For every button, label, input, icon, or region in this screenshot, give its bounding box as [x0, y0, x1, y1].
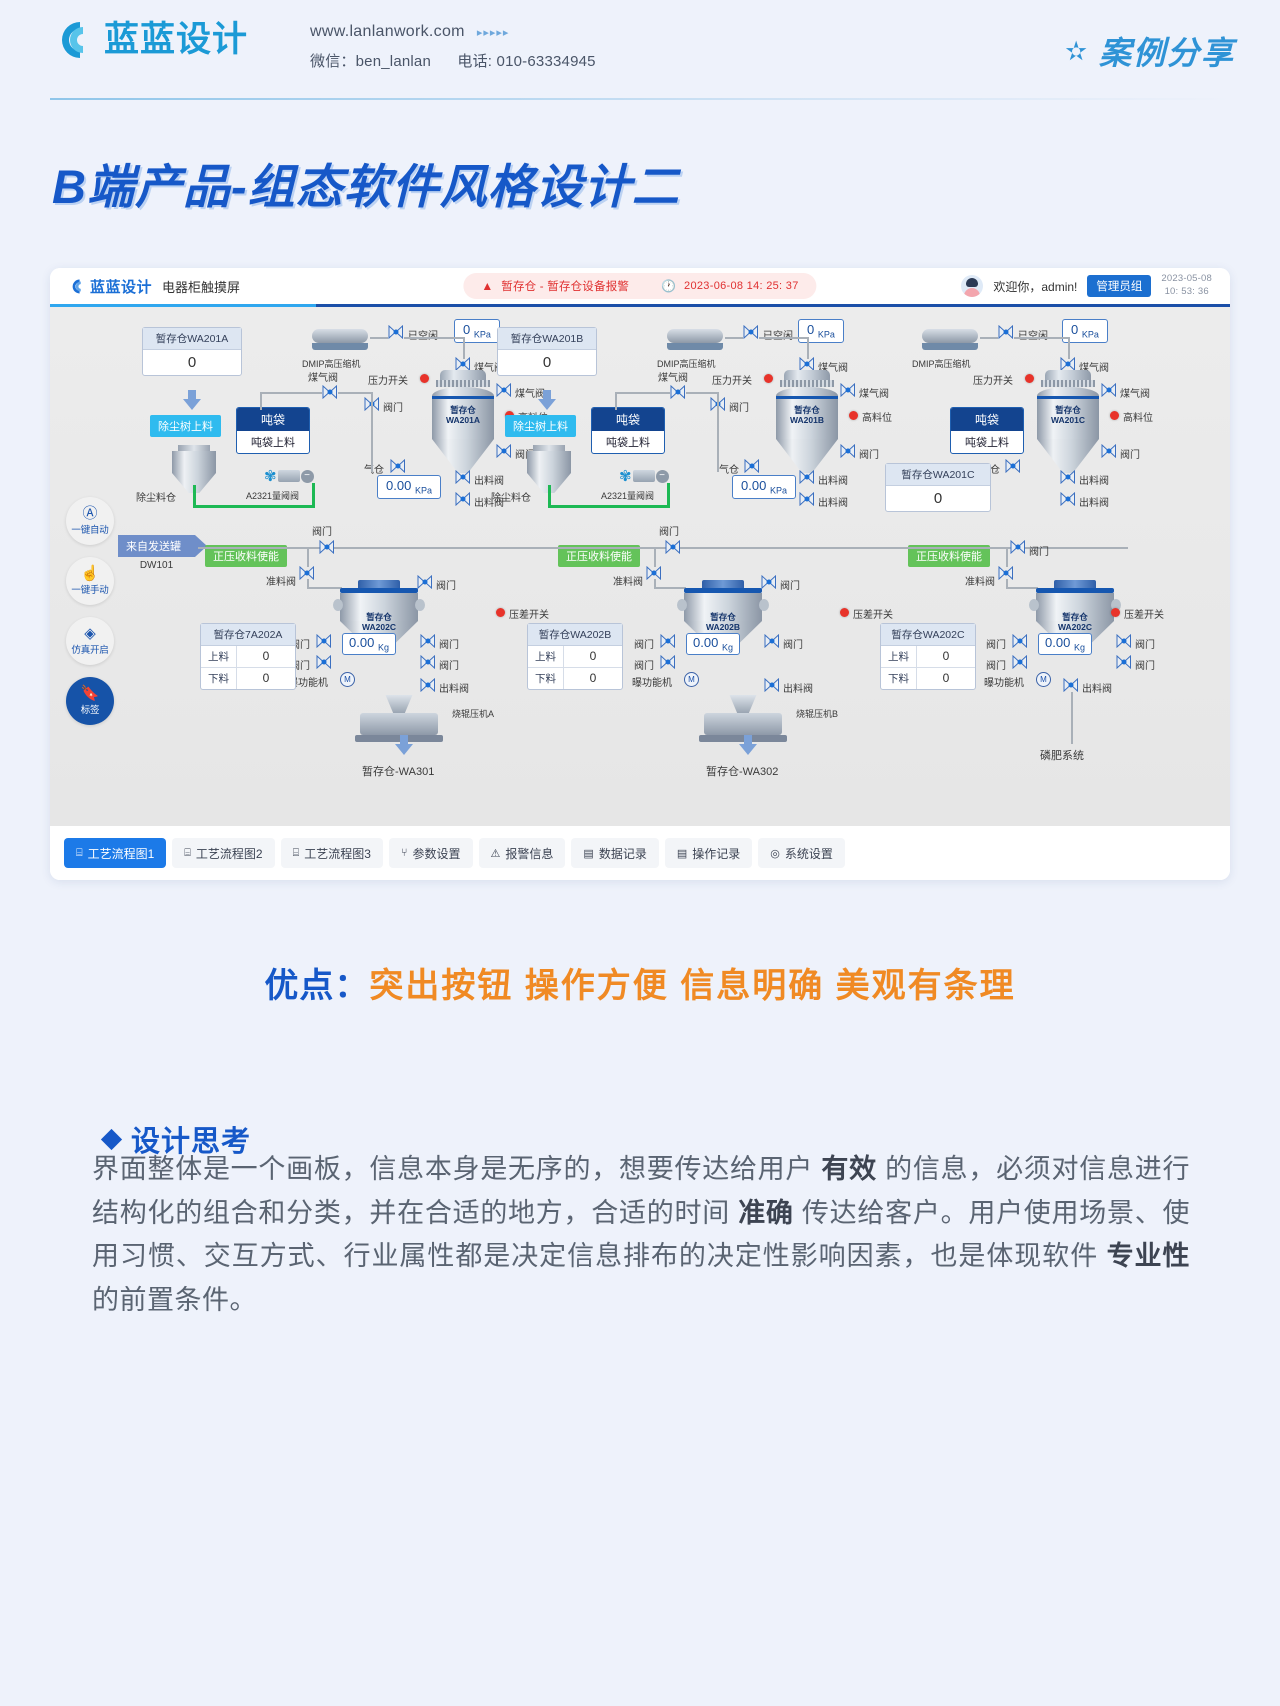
idle-label-c: 已空闲	[1018, 327, 1048, 342]
flow-icon: ⌸	[76, 847, 83, 860]
valve-icon[interactable]	[764, 678, 780, 692]
flow-icon: ⌸	[184, 847, 191, 860]
motor-icon-c: M	[1036, 672, 1051, 687]
mixer-readout-c: 0.00 Kg	[1038, 633, 1092, 655]
valve-icon[interactable]	[390, 459, 406, 473]
arrows-icon: ▸▸▸▸▸	[477, 26, 510, 39]
status-led-pressure-a	[420, 374, 429, 383]
avatar[interactable]	[961, 275, 983, 297]
header-clock: 2023-05-08 10: 53: 36	[1161, 273, 1212, 299]
tab-data-log[interactable]: ▤数据记录	[571, 838, 658, 868]
valve-label-b3: 阀门	[659, 523, 679, 538]
discharge-label-b2: 出料阀	[818, 494, 848, 509]
pros-line: 优点：突出按钮 操作方便 信息明确 美观有条理	[0, 958, 1280, 1007]
welcome-text: 欢迎你，admin!	[993, 278, 1077, 295]
hand-icon: ☝	[81, 566, 100, 581]
rail-label-auto: 一键自动	[71, 522, 108, 536]
mixer-name-c: 暂存仓WA202C	[1042, 613, 1108, 633]
kpa-readout-b: 0.00 KPa	[732, 475, 796, 499]
mixer-discharge-c: 出料阀	[1082, 680, 1112, 695]
valve-label-b2: 阀门	[729, 399, 749, 414]
share-tag: ✫ 案例分享	[1065, 28, 1235, 74]
site-header: 蓝蓝设计 www.lanlanwork.com ▸▸▸▸▸ 微信：ben_lan…	[0, 0, 1280, 100]
valve-icon[interactable]	[496, 444, 512, 458]
app-header-right: 欢迎你，admin! 管理员组 2023-05-08 10: 53: 36	[961, 273, 1218, 299]
table-a-title: 暂存仓7A202A	[201, 624, 295, 646]
valve-icon[interactable]	[1060, 470, 1076, 484]
silo-box-wa201b[interactable]: 暂存仓WA201B 0	[497, 327, 597, 376]
compressor-a	[312, 329, 368, 350]
from-tank-label: 来自发送罐	[118, 535, 195, 557]
silo-box-title: 暂存仓WA201B	[498, 328, 596, 350]
ton-bag-bottom-c: 吨袋上料	[951, 431, 1023, 453]
table-row: 上料0	[881, 646, 975, 668]
valve-icon[interactable]	[764, 634, 780, 648]
down-arrow-icon	[538, 390, 556, 410]
valve-icon[interactable]	[799, 357, 815, 371]
diff-switch-label-a: 压差开关	[509, 606, 549, 621]
note-icon: ▤	[677, 847, 687, 860]
down-arrow-icon	[739, 735, 757, 755]
ton-bag-button-b[interactable]: 吨袋 吨袋上料	[591, 407, 665, 454]
diff-switch-label-b: 压差开关	[853, 606, 893, 621]
mixer-valve-c1: 阀门	[986, 636, 1006, 651]
ton-bag-bottom-b: 吨袋上料	[592, 431, 664, 453]
valve-icon[interactable]	[1101, 383, 1117, 397]
valve-icon[interactable]	[998, 566, 1014, 580]
auto-icon: Ⓐ	[82, 506, 97, 521]
meter-valve-label-b: A2321量阈阀	[601, 489, 654, 502]
valve-icon[interactable]	[646, 566, 662, 580]
alarm-banner[interactable]: ▲ 暂存仓 - 暂存仓设备报警 🕐 2023-06-08 14: 25: 37	[463, 273, 816, 299]
valve-icon[interactable]	[998, 325, 1014, 339]
mixer-valve-b1: 阀门	[634, 636, 654, 651]
valve-icon[interactable]	[455, 492, 471, 506]
rail-button-tag[interactable]: 🔖 标签	[66, 677, 114, 725]
valve-icon[interactable]	[840, 444, 856, 458]
dust-silo-label-a: 除尘料仓	[136, 489, 176, 504]
table-b-title: 暂存仓WA202B	[528, 624, 622, 646]
idle-label-b: 已空闲	[763, 327, 793, 342]
mixer-discharge-b: 出料阀	[783, 680, 813, 695]
valve-icon[interactable]	[496, 383, 512, 397]
valve-icon[interactable]	[1010, 540, 1026, 554]
valve-icon[interactable]	[743, 325, 759, 339]
brand-phone: 电话: 010-63334945	[457, 53, 595, 70]
valve-icon[interactable]	[660, 634, 676, 648]
valve-icon[interactable]	[455, 357, 471, 371]
brand-contact: www.lanlanwork.com ▸▸▸▸▸ 微信：ben_lanlan 电…	[310, 18, 596, 71]
rail-label-simulate: 仿真开启	[71, 642, 108, 656]
mixer-valve-a3: 阀门	[439, 636, 459, 651]
brand-wechat: 微信：ben_lanlan	[310, 53, 431, 70]
mixer-valve-a4: 阀门	[439, 657, 459, 672]
bookmark-icon: 🔖	[81, 686, 100, 701]
valve-icon[interactable]	[1060, 357, 1076, 371]
app-logo-icon	[68, 278, 85, 295]
star-icon: ✫	[1065, 36, 1087, 67]
mixer-name-a: 暂存仓WA202C	[346, 613, 412, 633]
dust-feed-chip-a[interactable]: 除尘树上料	[150, 415, 221, 437]
discharge-label-c2: 出料阀	[1079, 494, 1109, 509]
valve-icon[interactable]	[420, 655, 436, 669]
valve-icon[interactable]	[670, 385, 686, 399]
blower-b: ✾ −	[619, 467, 669, 485]
app-screen-title: 电器柜触摸屏	[162, 277, 240, 296]
app-brand-name: 蓝蓝设计	[90, 276, 152, 297]
dust-silo-label-b: 除尘料仓	[491, 489, 531, 504]
mixer-valve-c4: 阀门	[1135, 657, 1155, 672]
bottom-label-c: 磷肥系统	[1040, 747, 1084, 763]
bottom-label-b: 暂存仓-WA302	[706, 763, 778, 779]
valve-icon[interactable]	[316, 655, 332, 669]
ton-bag-top-b: 吨袋	[592, 408, 664, 431]
rail-button-simulate[interactable]: ◈ 仿真开启	[66, 617, 114, 665]
press-label-b: 烧辊压机B	[796, 707, 838, 720]
header-time: 10: 53: 36	[1161, 286, 1212, 299]
ton-bag-button-c[interactable]: 吨袋 吨袋上料	[950, 407, 1024, 454]
bottom-tabbar: ⌸工艺流程图1 ⌸工艺流程图2 ⌸工艺流程图3 ⑂参数设置 ⚠报警信息 ▤数据记…	[50, 826, 1230, 880]
mixer-name-b: 暂存仓WA202B	[690, 613, 756, 633]
dust-feed-chip-b[interactable]: 除尘树上料	[505, 415, 576, 437]
valve-icon[interactable]	[1116, 634, 1132, 648]
gas-valve-side-b: 煤气阀	[859, 385, 889, 400]
valve-icon[interactable]	[799, 492, 815, 506]
mixer-readout-a: 0.00 Kg	[342, 633, 396, 655]
silo-box-title: 暂存仓WA201C	[886, 464, 990, 486]
press-label-a: 烧辊压机A	[452, 707, 494, 720]
silo-box-wa201c[interactable]: 暂存仓WA201C 0	[885, 463, 991, 512]
page-title: B端产品-组态软件风格设计二	[52, 148, 1280, 217]
mixer-valve-c2: 阀门	[986, 657, 1006, 672]
table-row: 下料0	[528, 668, 622, 689]
bottom-label-a: 暂存仓-WA301	[362, 763, 434, 779]
valve-icon[interactable]	[1012, 634, 1028, 648]
table-row: 下料0	[881, 668, 975, 689]
gas-valve-mid-a: 煤气阀	[308, 369, 338, 384]
discharge-label-c1: 出料阀	[1079, 472, 1109, 487]
status-led-pressure-c	[1025, 374, 1034, 383]
vessel-wa201a: 暂存仓WA201A	[432, 370, 494, 473]
table-c-title: 暂存仓WA202C	[881, 624, 975, 646]
sliders-icon: ⑂	[401, 847, 408, 859]
valve-icon[interactable]	[761, 575, 777, 589]
tab-alarms[interactable]: ⚠报警信息	[479, 838, 566, 868]
mixer-valve-a0: 阀门	[436, 577, 456, 592]
valve-icon[interactable]	[1116, 655, 1132, 669]
gas-valve-mid-b: 煤气阀	[658, 369, 688, 384]
ton-bag-bottom-a: 吨袋上料	[237, 431, 309, 453]
compressor-label-c: DMIP高压缩机	[912, 357, 971, 370]
valve-icon[interactable]	[1012, 655, 1028, 669]
warning-triangle-icon: ▲	[481, 279, 493, 293]
valve-label-a2: 阀门	[383, 399, 403, 414]
status-led-diff-c	[1111, 608, 1120, 617]
valve-label-b1: 阀门	[859, 446, 879, 461]
mixer-valve-b3: 阀门	[783, 636, 803, 651]
silo-box-title: 暂存仓WA201A	[143, 328, 241, 350]
pressure-top-a: 0 KPa	[454, 319, 500, 343]
role-badge[interactable]: 管理员组	[1087, 275, 1151, 297]
valve-icon[interactable]	[420, 678, 436, 692]
valve-icon[interactable]	[660, 655, 676, 669]
app-window: 蓝蓝设计 电器柜触摸屏 ▲ 暂存仓 - 暂存仓设备报警 🕐 2023-06-08…	[50, 268, 1230, 880]
tab-flow-2[interactable]: ⌸工艺流程图2	[172, 838, 274, 868]
ton-bag-button-a[interactable]: 吨袋 吨袋上料	[236, 407, 310, 454]
alarm-icon: ⚠	[491, 847, 501, 860]
idle-label-a: 已空闲	[408, 327, 438, 342]
status-led-diff-a	[496, 608, 505, 617]
table-row: 上料0	[528, 646, 622, 668]
brand-name: 蓝蓝设计	[104, 18, 248, 62]
aerator-label-c: 曝功能机	[984, 674, 1024, 689]
pros-key: 优点：	[264, 967, 369, 1005]
tab-parameters[interactable]: ⑂参数设置	[389, 838, 473, 868]
compressor-b	[667, 329, 723, 350]
mixer-valve-c3: 阀门	[1135, 636, 1155, 651]
app-logo: 蓝蓝设计	[68, 276, 152, 297]
rail-button-manual[interactable]: ☝ 一键手动	[66, 557, 114, 605]
silo-box-value: 0	[143, 350, 241, 375]
header-divider	[50, 98, 1235, 100]
tab-operation-log[interactable]: ▤操作记录	[665, 838, 752, 868]
valve-icon[interactable]	[319, 540, 335, 554]
tab-system-settings[interactable]: ◎系统设置	[758, 838, 845, 868]
high-level-label-b: 高料位	[862, 409, 892, 424]
valve-icon[interactable]	[665, 540, 681, 554]
mixer-readout-b: 0.00 Kg	[686, 633, 740, 655]
brand-logo: 蓝蓝设计	[50, 18, 248, 62]
table-a[interactable]: 暂存仓7A202A 上料0 下料0	[200, 623, 296, 690]
brand-website: www.lanlanwork.com	[310, 23, 465, 41]
mixer-discharge-a: 出料阀	[439, 680, 469, 695]
high-level-label-c: 高料位	[1123, 409, 1153, 424]
meter-valve-label-a: A2321量阈阀	[246, 489, 299, 502]
gas-valve-side-c: 煤气阀	[1120, 385, 1150, 400]
vessel-wa201c: 暂存仓WA201C	[1037, 370, 1099, 473]
valve-icon[interactable]	[388, 325, 404, 339]
down-arrow-icon	[395, 735, 413, 755]
ton-bag-top-c: 吨袋	[951, 408, 1023, 431]
feed-valve-label-c: 准料阀	[965, 573, 995, 588]
from-tank-code: DW101	[118, 560, 195, 571]
valve-icon[interactable]	[799, 470, 815, 484]
status-led-pressure-b	[764, 374, 773, 383]
simulate-icon: ◈	[84, 626, 96, 641]
table-row: 上料0	[201, 646, 295, 668]
silo-box-value: 0	[498, 350, 596, 375]
valve-icon[interactable]	[1060, 492, 1076, 506]
status-led-diff-b	[840, 608, 849, 617]
valve-icon[interactable]	[1063, 678, 1079, 692]
valve-icon[interactable]	[455, 470, 471, 484]
table-c[interactable]: 暂存仓WA202C 上料0 下料0	[880, 623, 976, 690]
control-rail: Ⓐ 一键自动 ☝ 一键手动 ◈ 仿真开启 🔖 标签	[66, 497, 114, 725]
status-led-high-c	[1110, 411, 1119, 420]
rail-label-manual: 一键手动	[71, 582, 108, 596]
motor-icon-a: M	[340, 672, 355, 687]
silo-box-value: 0	[886, 486, 990, 511]
alarm-text: 暂存仓 - 暂存仓设备报警	[501, 278, 629, 294]
pressure-switch-label-b: 压力开关	[712, 372, 752, 387]
rail-button-auto[interactable]: Ⓐ 一键自动	[66, 497, 114, 545]
tab-flow-3[interactable]: ⌸工艺流程图3	[281, 838, 383, 868]
compressor-c	[922, 329, 978, 350]
feed-valve-label-b: 准料阀	[613, 573, 643, 588]
ton-bag-top-a: 吨袋	[237, 408, 309, 431]
diamond-icon	[101, 1128, 122, 1149]
share-label: 案例分享	[1099, 28, 1235, 74]
air-silo-label-a: 气仓	[364, 461, 384, 476]
silo-box-wa201a[interactable]: 暂存仓WA201A 0	[142, 327, 242, 376]
table-b[interactable]: 暂存仓WA202B 上料0 下料0	[527, 623, 623, 690]
rail-label-tag: 标签	[81, 702, 100, 716]
vessel-wa201b: 暂存仓WA201B	[776, 370, 838, 473]
valve-icon[interactable]	[420, 634, 436, 648]
gear-icon: ◎	[770, 847, 780, 860]
valve-icon[interactable]	[299, 566, 315, 580]
valve-icon[interactable]	[322, 385, 338, 399]
valve-icon[interactable]	[1101, 444, 1117, 458]
discharge-label-a1: 出料阀	[474, 472, 504, 487]
process-canvas: Ⓐ 一键自动 ☝ 一键手动 ◈ 仿真开启 🔖 标签 暂存仓WA201A 0	[50, 307, 1230, 826]
flow-icon: ⌸	[293, 847, 300, 860]
from-tank-banner: 来自发送罐 DW101	[118, 535, 195, 571]
blower-a: ✾ −	[264, 467, 314, 485]
motor-icon-b: M	[684, 672, 699, 687]
mixer-valve-b0: 阀门	[780, 577, 800, 592]
valve-icon[interactable]	[316, 634, 332, 648]
discharge-label-b1: 出料阀	[818, 472, 848, 487]
valve-icon[interactable]	[840, 383, 856, 397]
pressure-switch-label-a: 压力开关	[368, 372, 408, 387]
valve-label-c1: 阀门	[1120, 446, 1140, 461]
diff-switch-label-c: 压差开关	[1124, 606, 1164, 621]
database-icon: ▤	[583, 847, 593, 860]
app-header: 蓝蓝设计 电器柜触摸屏 ▲ 暂存仓 - 暂存仓设备报警 🕐 2023-06-08…	[50, 268, 1230, 304]
status-led-high-b	[849, 411, 858, 420]
lanlan-logo-icon	[50, 18, 94, 62]
clock-icon: 🕐	[661, 279, 676, 293]
mixer-valve-b2: 阀门	[634, 657, 654, 672]
valve-icon[interactable]	[744, 459, 760, 473]
pressure-top-b: 0 KPa	[798, 319, 844, 343]
valve-label-c3: 阀门	[1029, 543, 1049, 558]
down-arrow-icon	[183, 390, 201, 410]
valve-label-a3: 阀门	[312, 523, 332, 538]
valve-icon[interactable]	[1005, 459, 1021, 473]
pressure-switch-label-c: 压力开关	[973, 372, 1013, 387]
thoughts-paragraph: 界面整体是一个画板，信息本身是无序的，想要传达给用户 有效 的信息，必须对信息进…	[92, 1148, 1190, 1323]
aerator-label-b: 曝功能机	[632, 674, 672, 689]
alarm-time: 2023-06-08 14: 25: 37	[684, 280, 799, 292]
tab-flow-1[interactable]: ⌸工艺流程图1	[64, 838, 166, 868]
feed-valve-label-a: 准料阀	[266, 573, 296, 588]
valve-icon[interactable]	[417, 575, 433, 589]
table-row: 下料0	[201, 668, 295, 689]
pros-value: 突出按钮 操作方便 信息明确 美观有条理	[369, 967, 1015, 1005]
air-silo-label-b: 气仓	[719, 461, 739, 476]
kpa-readout-a: 0.00 KPa	[377, 475, 441, 499]
header-date: 2023-05-08	[1161, 273, 1212, 286]
